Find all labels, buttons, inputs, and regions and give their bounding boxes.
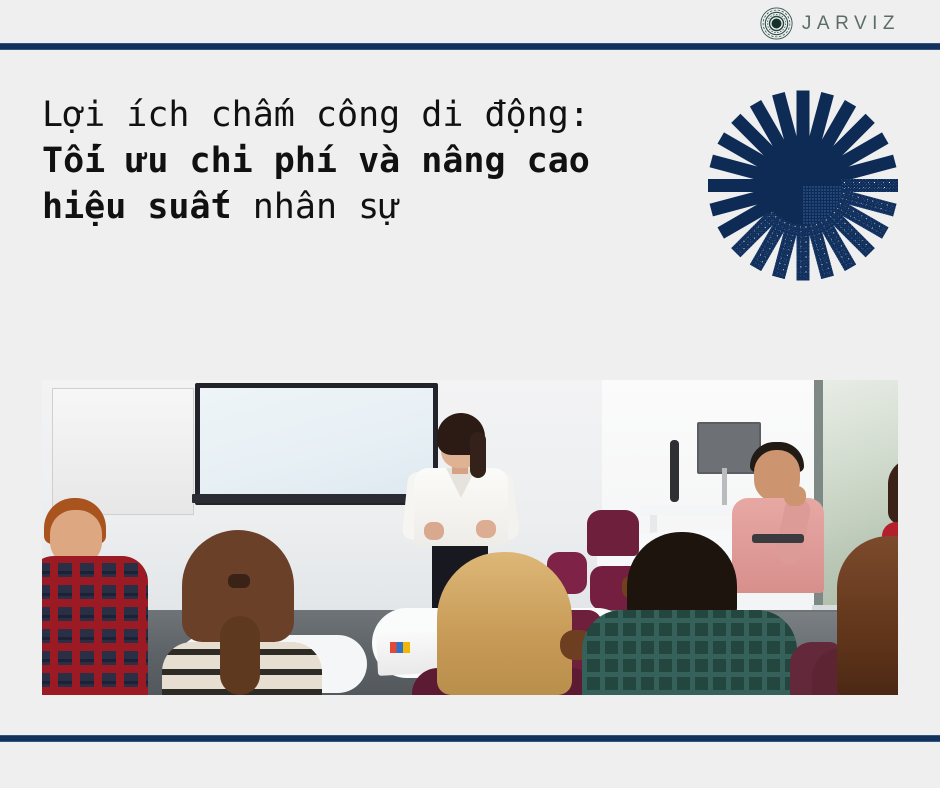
classroom-photo <box>42 380 898 695</box>
photo-projection-screen <box>195 383 438 505</box>
photo-screen-frame <box>192 494 435 503</box>
photo-presenter-hair-strand <box>470 432 486 478</box>
photo-presenter-hand <box>476 520 496 538</box>
headline-line-1: Lợi ích chấm công di động: <box>42 92 662 138</box>
photo-attendee-hair <box>437 552 572 695</box>
headline-line-3-regular: nhân sự <box>232 187 401 227</box>
poster-canvas: JARVIZ Lợi ích chấm công di động: Tối ưu… <box>0 0 940 788</box>
photo-attendee-hair <box>837 536 898 695</box>
footer-divider <box>0 735 940 742</box>
headline-line-2: Tối ưu chi phí và nâng cao <box>42 138 662 184</box>
photo-attendee-hair-tie <box>228 574 250 588</box>
brand-wordmark: JARVIZ <box>802 14 900 33</box>
photo-attendee-plaid-shirt <box>582 610 797 695</box>
photo-presenter-hand <box>424 522 444 540</box>
photo-monitor-arm <box>722 468 727 508</box>
brand-logo[interactable]: JARVIZ <box>760 7 900 40</box>
photo-attendee-hand <box>784 486 806 506</box>
photo-whiteboard <box>52 388 194 515</box>
header-divider <box>0 43 940 50</box>
photo-phone-on-table <box>752 534 804 543</box>
headline-line-3: hiệu suất nhân sự <box>42 184 662 230</box>
photo-attendee-plaid-shirt <box>42 556 148 695</box>
photo-laptop-sticker <box>390 642 410 653</box>
headline-line-3-bold: hiệu suất <box>42 187 232 227</box>
sunburst-rays-graphic <box>705 88 900 283</box>
jarviz-target-rings-icon <box>760 7 793 40</box>
photo-chair <box>587 510 639 556</box>
headline-block: Lợi ích chấm công di động: Tối ưu chi ph… <box>42 92 662 230</box>
photo-camera-stand <box>670 440 679 502</box>
photo-attendee-ponytail <box>220 616 260 695</box>
header-bar: JARVIZ <box>0 0 940 45</box>
